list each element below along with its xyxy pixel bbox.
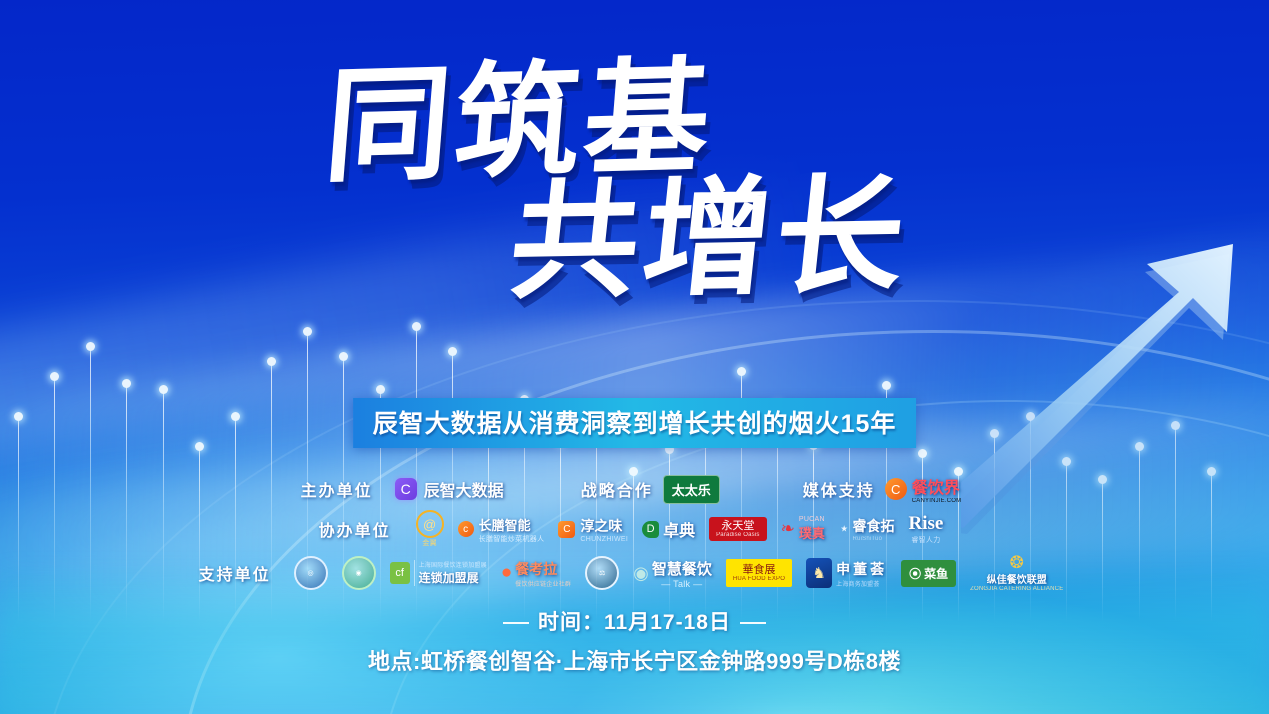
logo-jinyi[interactable]: @ 金翼 [416, 510, 444, 548]
restaurant-academy-icon: ⚖ [585, 556, 619, 590]
changshan-mark-icon: c [458, 521, 474, 537]
pucan-sub: PUCAN [799, 516, 825, 523]
caiyu-badge: ⦿ 菜鱼 [901, 560, 956, 587]
canyinjie-label: 餐饮界 [912, 474, 962, 498]
changshan-label: 长膳智能 [479, 515, 545, 534]
ruishituo-sub: RuiShiTuo [853, 536, 895, 542]
huashizhan-label: 華食展 [742, 564, 775, 576]
footer-time-label: 时间： [538, 611, 604, 634]
logo-canyinjie[interactable]: C 餐饮界 CANYINJIE.COM [885, 474, 962, 504]
restaurant-academy-mark: ⚖ [599, 570, 605, 577]
assoc-seal-2-mark: ◉ [356, 570, 362, 577]
sponsor-rows: 主办单位 C 辰智大数据 战略合作 太太乐 媒体支持 C 餐饮界 CANYINJ… [0, 474, 1269, 598]
sponsor-row-coorganizer: 协办单位 @ 金翼 c 长膳智能 长膳智能炒菜机器人 C [0, 510, 1269, 548]
pucan-label: 璞真 [799, 523, 825, 542]
assoc-seal-2-icon: ◉ [342, 556, 376, 590]
rise-hr-label: 睿智人力 [911, 535, 940, 545]
logo-restaurant-academy[interactable]: ⚖ [585, 556, 619, 590]
rise-hr-sub: Rise [909, 513, 944, 535]
gift-expo-sub: 上海商务加盟荟 [836, 579, 887, 588]
supporter-logo-list: ◎ ◉ cf 上海国际餐饮连锁加盟展 连锁加盟展 ● [287, 554, 1071, 592]
logo-pucan[interactable]: ❧ PUCAN 璞真 [781, 516, 825, 542]
caiyu-label: 菜鱼 [924, 565, 948, 582]
logo-paradise-oasis[interactable]: 永天堂 Paradise Oasis [709, 517, 767, 542]
footer-place: 地点:虹桥餐创智谷·上海市长宁区金钟路999号D栋8楼 [0, 644, 1269, 676]
title-line-2: 共增长 [142, 165, 1269, 313]
gift-expo-label: 申董荟 [836, 559, 887, 579]
logo-rise-hr[interactable]: Rise 睿智人力 [909, 513, 944, 545]
zongjia-label: 纵佳餐饮联盟 [987, 571, 1047, 586]
paradise-oasis-label: 永天堂 [721, 520, 754, 532]
pucan-mark-icon: ❧ [781, 519, 795, 539]
jinyi-label: 金翼 [422, 538, 437, 548]
dash-left [503, 622, 529, 624]
logo-chunzhiwei[interactable]: C 淳之味 CHUNZHIWEI [558, 516, 628, 543]
paradise-oasis-badge: 永天堂 Paradise Oasis [709, 517, 767, 542]
paradise-oasis-sub: Paradise Oasis [716, 532, 760, 539]
poster-canvas: 同筑基 共增长 辰智大数据从消费洞察到增长共创的烟火15年 主办单位 C 辰智大… [0, 0, 1269, 714]
coorganizer-logo-list: @ 金翼 c 长膳智能 长膳智能炒菜机器人 C 淳之味 CHUNZHIWEI [409, 510, 951, 548]
huashizhan-badge: 華食展 HUA FOOD EXPO [726, 559, 792, 588]
logo-zhihui-canyin-talk[interactable]: ◉ 智慧餐饮 — Talk — [633, 558, 712, 589]
poster-subtitle: 辰智大数据从消费洞察到增长共创的烟火15年 [353, 398, 917, 448]
assoc-seal-1-mark: ◎ [308, 570, 314, 577]
zongjia-swirl-icon: ❂ [1010, 554, 1024, 571]
logo-caiyu[interactable]: ⦿ 菜鱼 [901, 560, 956, 587]
cankaola-sub: 餐饮供应链企业社群 [515, 579, 571, 588]
logo-chenzhi-bigdata[interactable]: C 辰智大数据 [395, 477, 504, 501]
zongjia-sub: ZONGJIA CATERING ALLIANCE [970, 586, 1063, 592]
zongjia-stack: ❂ 纵佳餐饮联盟 ZONGJIA CATERING ALLIANCE [970, 554, 1063, 592]
zhuodian-mark-icon: D [642, 521, 659, 538]
cankaola-koala-icon: ● [501, 562, 512, 584]
chunzhiwei-label: 淳之味 [580, 516, 628, 536]
jinyi-mark-icon: @ [416, 510, 444, 538]
sponsor-row-supporter: 支持单位 ◎ ◉ cf 上海国际餐饮连锁加盟展 连锁加盟展 [0, 554, 1269, 592]
logo-huashizhan[interactable]: 華食展 HUA FOOD EXPO [726, 559, 792, 588]
canyinjie-sub: CANYINJIE.COM [912, 498, 962, 504]
changshan-sub: 长膳智能炒菜机器人 [479, 534, 545, 544]
franchise-expo-cf-icon: cf [390, 562, 410, 584]
chunzhiwei-mark-icon: C [558, 521, 575, 538]
logo-zongjia-alliance[interactable]: ❂ 纵佳餐饮联盟 ZONGJIA CATERING ALLIANCE [970, 554, 1063, 592]
franchise-expo-label: 上海国际餐饮连锁加盟展 [419, 560, 487, 569]
row-label-supporter: 支持单位 [199, 561, 271, 585]
row-label-strategic: 战略合作 [581, 477, 653, 501]
sponsor-row-organizer: 主办单位 C 辰智大数据 战略合作 太太乐 媒体支持 C 餐饮界 CANYINJ… [0, 474, 1269, 504]
title-line-1: 同筑基 [0, 40, 1269, 204]
logo-assoc-seal-1[interactable]: ◎ [294, 556, 328, 590]
franchise-expo-sub: 连锁加盟展 [419, 569, 487, 586]
chenzhi-label: 辰智大数据 [424, 477, 504, 501]
zhihui-sub: — Talk — [661, 579, 702, 589]
footer-time-line: 时间：11月17-18日 [0, 606, 1269, 636]
row-label-organizer: 主办单位 [301, 477, 373, 501]
logo-shanghai-gift-expo[interactable]: ♞ 申董荟 上海商务加盟荟 [806, 558, 887, 588]
dash-right [740, 622, 766, 624]
footer-time-value: 11月17-18日 [604, 611, 731, 634]
logo-shanghai-franchise-expo[interactable]: cf 上海国际餐饮连锁加盟展 连锁加盟展 [390, 560, 487, 586]
assoc-seal-1-icon: ◎ [294, 556, 328, 590]
cankaola-label: 餐考拉 [515, 559, 571, 579]
logo-changshan-zhineng[interactable]: c 长膳智能 长膳智能炒菜机器人 [458, 515, 545, 544]
row-label-coorganizer: 协办单位 [319, 517, 391, 541]
caiyu-leaf-icon: ⦿ [909, 565, 921, 582]
logo-cankaola[interactable]: ● 餐考拉 餐饮供应链企业社群 [501, 559, 571, 588]
zhihui-label: 智慧餐饮 [652, 558, 712, 579]
poster-footer: 时间：11月17-18日 地点:虹桥餐创智谷·上海市长宁区金钟路999号D栋8楼 [0, 606, 1269, 676]
chunzhiwei-sub: CHUNZHIWEI [580, 536, 628, 543]
taitaile-label: 太太乐 [663, 475, 720, 504]
ruishituo-mark-icon: ⋆ [839, 519, 850, 539]
poster-title: 同筑基 共增长 [0, 60, 1269, 303]
huashizhan-sub: HUA FOOD EXPO [733, 576, 785, 583]
logo-ruishituo[interactable]: ⋆ 睿食拓 RuiShiTuo [839, 516, 895, 542]
logo-zhuodian[interactable]: D 卓典 [642, 517, 695, 541]
canyinjie-c-icon: C [885, 478, 907, 500]
gift-expo-horse-icon: ♞ [806, 558, 832, 588]
chenzhi-c-icon: C [395, 478, 417, 500]
row-label-media: 媒体支持 [803, 477, 875, 501]
logo-assoc-seal-2[interactable]: ◉ [342, 556, 376, 590]
logo-taitaile[interactable]: 太太乐 [663, 475, 720, 504]
zhuodian-label: 卓典 [663, 517, 695, 541]
zhihui-globe-icon: ◉ [633, 563, 649, 584]
ruishituo-label: 睿食拓 [853, 516, 895, 536]
